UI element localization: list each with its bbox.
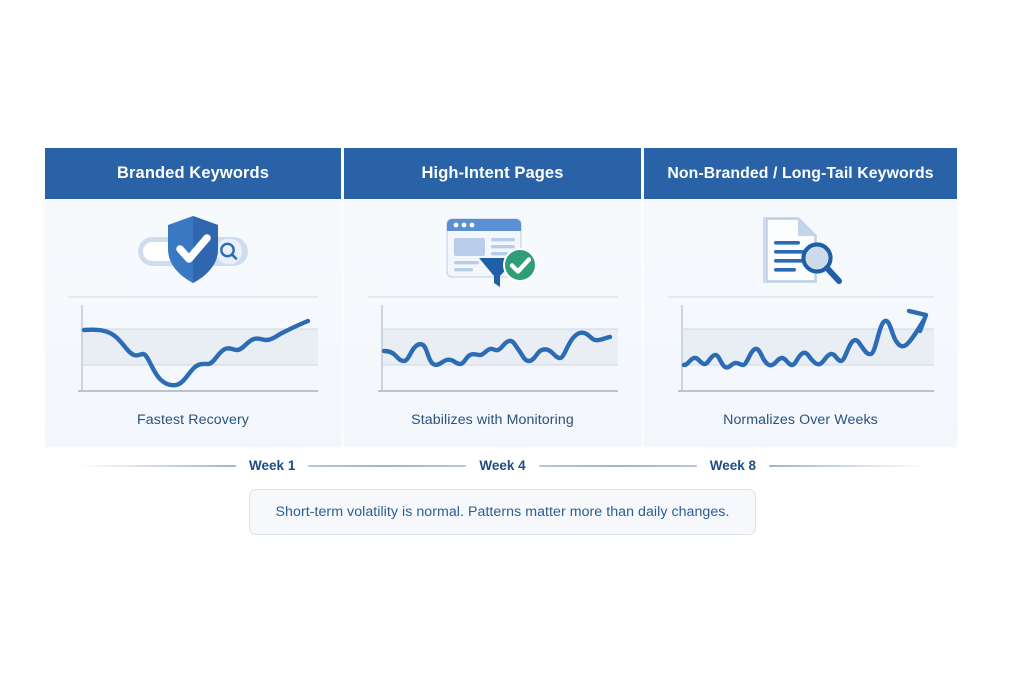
- chart-slot: [344, 293, 641, 398]
- card-caption: Normalizes Over Weeks: [644, 398, 957, 446]
- card-body: Fastest Recovery: [45, 199, 341, 446]
- card-row: Branded Keywords: [45, 148, 960, 446]
- timeline-label-week-1: Week 1: [236, 458, 308, 473]
- timeline-segment: [769, 465, 927, 467]
- timeline-segment: [78, 465, 236, 467]
- document-magnifier-icon: [755, 213, 847, 289]
- footer-note: Short-term volatility is normal. Pattern…: [249, 489, 757, 535]
- card-non-branded-keywords[interactable]: Non-Branded / Long-Tail Keywords: [644, 148, 957, 446]
- card-high-intent-pages[interactable]: High-Intent Pages: [344, 148, 641, 446]
- sparkline-chart-branded: [68, 293, 318, 398]
- icon-slot: [441, 209, 545, 293]
- timeline-segment: [539, 465, 697, 467]
- icon-slot: [755, 209, 847, 293]
- shield-check-search-icon: [130, 213, 256, 289]
- card-caption: Stabilizes with Monitoring: [344, 398, 641, 446]
- icon-slot: [130, 209, 256, 293]
- timeline: Week 1 Week 4 Week 8: [45, 458, 960, 473]
- sparkline-chart-non-branded: [668, 293, 934, 398]
- card-title: Non-Branded / Long-Tail Keywords: [644, 148, 957, 199]
- card-branded-keywords[interactable]: Branded Keywords: [45, 148, 341, 446]
- timeline-segment: [308, 465, 466, 467]
- timeline-label-week-4: Week 4: [466, 458, 538, 473]
- card-title: Branded Keywords: [45, 148, 341, 199]
- card-caption: Fastest Recovery: [45, 398, 341, 446]
- card-title: High-Intent Pages: [344, 148, 641, 199]
- chart-slot: [45, 293, 341, 398]
- card-body: Stabilizes with Monitoring: [344, 199, 641, 446]
- browser-funnel-check-icon: [441, 213, 545, 289]
- timeline-label-week-8: Week 8: [697, 458, 769, 473]
- recovery-infographic: Branded Keywords: [45, 148, 960, 535]
- chart-slot: [644, 293, 957, 398]
- note-wrap: Short-term volatility is normal. Pattern…: [45, 489, 960, 535]
- sparkline-chart-high-intent: [368, 293, 618, 398]
- card-body: Normalizes Over Weeks: [644, 199, 957, 446]
